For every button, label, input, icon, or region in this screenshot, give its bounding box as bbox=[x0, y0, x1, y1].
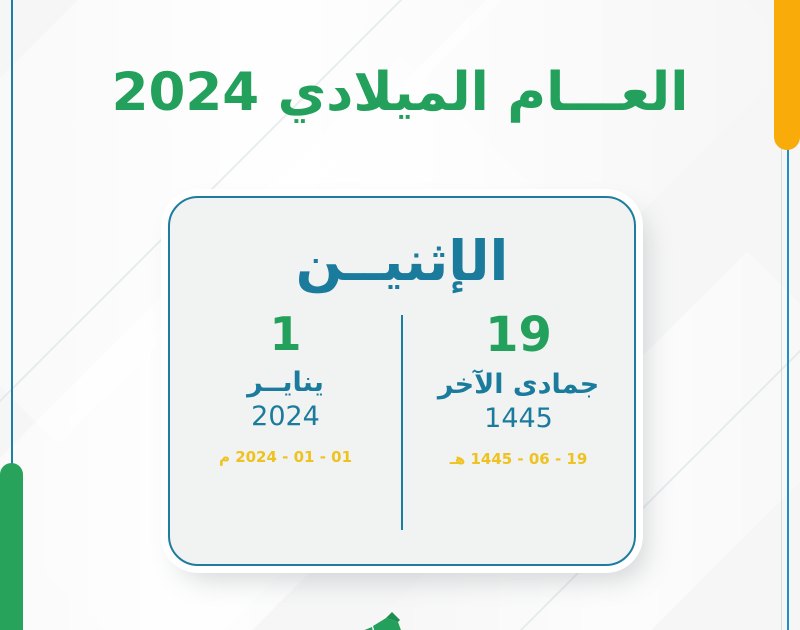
hijri-day-number: 19 bbox=[485, 311, 552, 359]
brand-logo bbox=[340, 600, 460, 630]
hijri-month-name: جمادى الآخر bbox=[438, 369, 599, 400]
gregorian-iso-date: 01 - 01 - 2024 م bbox=[219, 448, 352, 466]
green-corner-pill bbox=[0, 463, 23, 630]
gregorian-year: 2024 bbox=[251, 402, 320, 432]
day-name: الإثنيــن bbox=[296, 234, 509, 289]
hijri-iso-date: 19 - 06 - 1445 هـ bbox=[450, 450, 588, 468]
hijri-date-column: 19 جمادى الآخر 1445 19 - 06 - 1445 هـ bbox=[403, 311, 634, 468]
date-card: الإثنيــن 19 جمادى الآخر 1445 19 - 06 - … bbox=[168, 196, 636, 566]
page-title: العـــام الميلادي 2024 bbox=[0, 62, 800, 123]
gregorian-month-name: ينايــر bbox=[247, 367, 324, 398]
gregorian-day-number: 1 bbox=[270, 311, 302, 357]
gregorian-date-column: 1 ينايــر 2024 01 - 01 - 2024 م bbox=[170, 311, 401, 466]
date-columns: 19 جمادى الآخر 1445 19 - 06 - 1445 هـ 1 … bbox=[170, 311, 634, 564]
hijri-year: 1445 bbox=[484, 404, 553, 434]
